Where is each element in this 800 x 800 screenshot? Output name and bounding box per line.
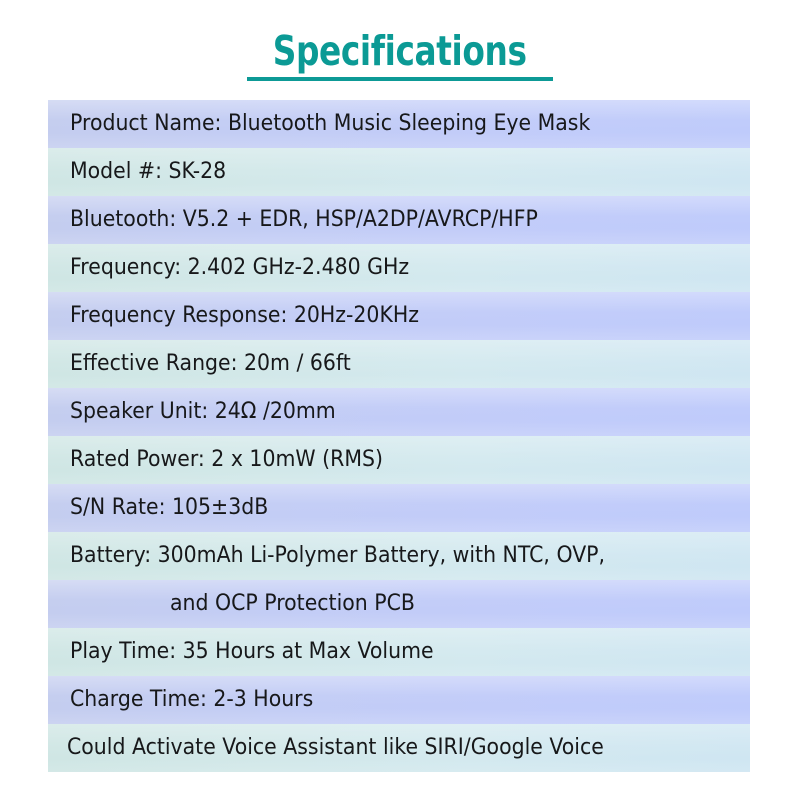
- spec-row-text: Battery: 300mAh Li-Polymer Battery, with…: [70, 532, 605, 580]
- spec-row-text: Bluetooth: V5.2 + EDR, HSP/A2DP/AVRCP/HF…: [70, 196, 538, 244]
- table-row: Model #: SK-28: [48, 148, 750, 196]
- table-row: Could Activate Voice Assistant like SIRI…: [48, 724, 750, 772]
- table-row: Rated Power: 2 x 10mW (RMS): [48, 436, 750, 484]
- table-row: and OCP Protection PCB: [48, 580, 750, 628]
- spec-row-text: Charge Time: 2-3 Hours: [70, 676, 313, 724]
- table-row: Effective Range: 20m / 66ft: [48, 340, 750, 388]
- title-underline: [247, 77, 553, 81]
- table-row: S/N Rate: 105±3dB: [48, 484, 750, 532]
- spec-row-text: Product Name: Bluetooth Music Sleeping E…: [70, 100, 590, 148]
- spec-row-text: Frequency: 2.402 GHz-2.480 GHz: [70, 244, 409, 292]
- table-row: Bluetooth: V5.2 + EDR, HSP/A2DP/AVRCP/HF…: [48, 196, 750, 244]
- table-row: Product Name: Bluetooth Music Sleeping E…: [48, 100, 750, 148]
- table-row: Frequency Response: 20Hz-20KHz: [48, 292, 750, 340]
- spec-row-text: Rated Power: 2 x 10mW (RMS): [70, 436, 383, 484]
- table-row: Speaker Unit: 24Ω /20mm: [48, 388, 750, 436]
- spec-row-text: and OCP Protection PCB: [170, 580, 415, 628]
- table-row: Play Time: 35 Hours at Max Volume: [48, 628, 750, 676]
- spec-row-text: Play Time: 35 Hours at Max Volume: [70, 628, 434, 676]
- spec-row-text: Frequency Response: 20Hz-20KHz: [70, 292, 419, 340]
- spec-row-text: S/N Rate: 105±3dB: [70, 484, 268, 532]
- table-row: Frequency: 2.402 GHz-2.480 GHz: [48, 244, 750, 292]
- specifications-sheet: Specifications Product Name: Bluetooth M…: [0, 0, 800, 800]
- spec-row-text: Effective Range: 20m / 66ft: [70, 340, 351, 388]
- spec-row-text: Could Activate Voice Assistant like SIRI…: [67, 724, 604, 772]
- spec-row-text: Model #: SK-28: [70, 148, 226, 196]
- page-title-text: Specifications: [273, 28, 527, 74]
- specifications-table: Product Name: Bluetooth Music Sleeping E…: [48, 100, 750, 772]
- page-title: Specifications: [0, 28, 800, 81]
- table-row: Charge Time: 2-3 Hours: [48, 676, 750, 724]
- table-row: Battery: 300mAh Li-Polymer Battery, with…: [48, 532, 750, 580]
- spec-row-text: Speaker Unit: 24Ω /20mm: [70, 388, 336, 436]
